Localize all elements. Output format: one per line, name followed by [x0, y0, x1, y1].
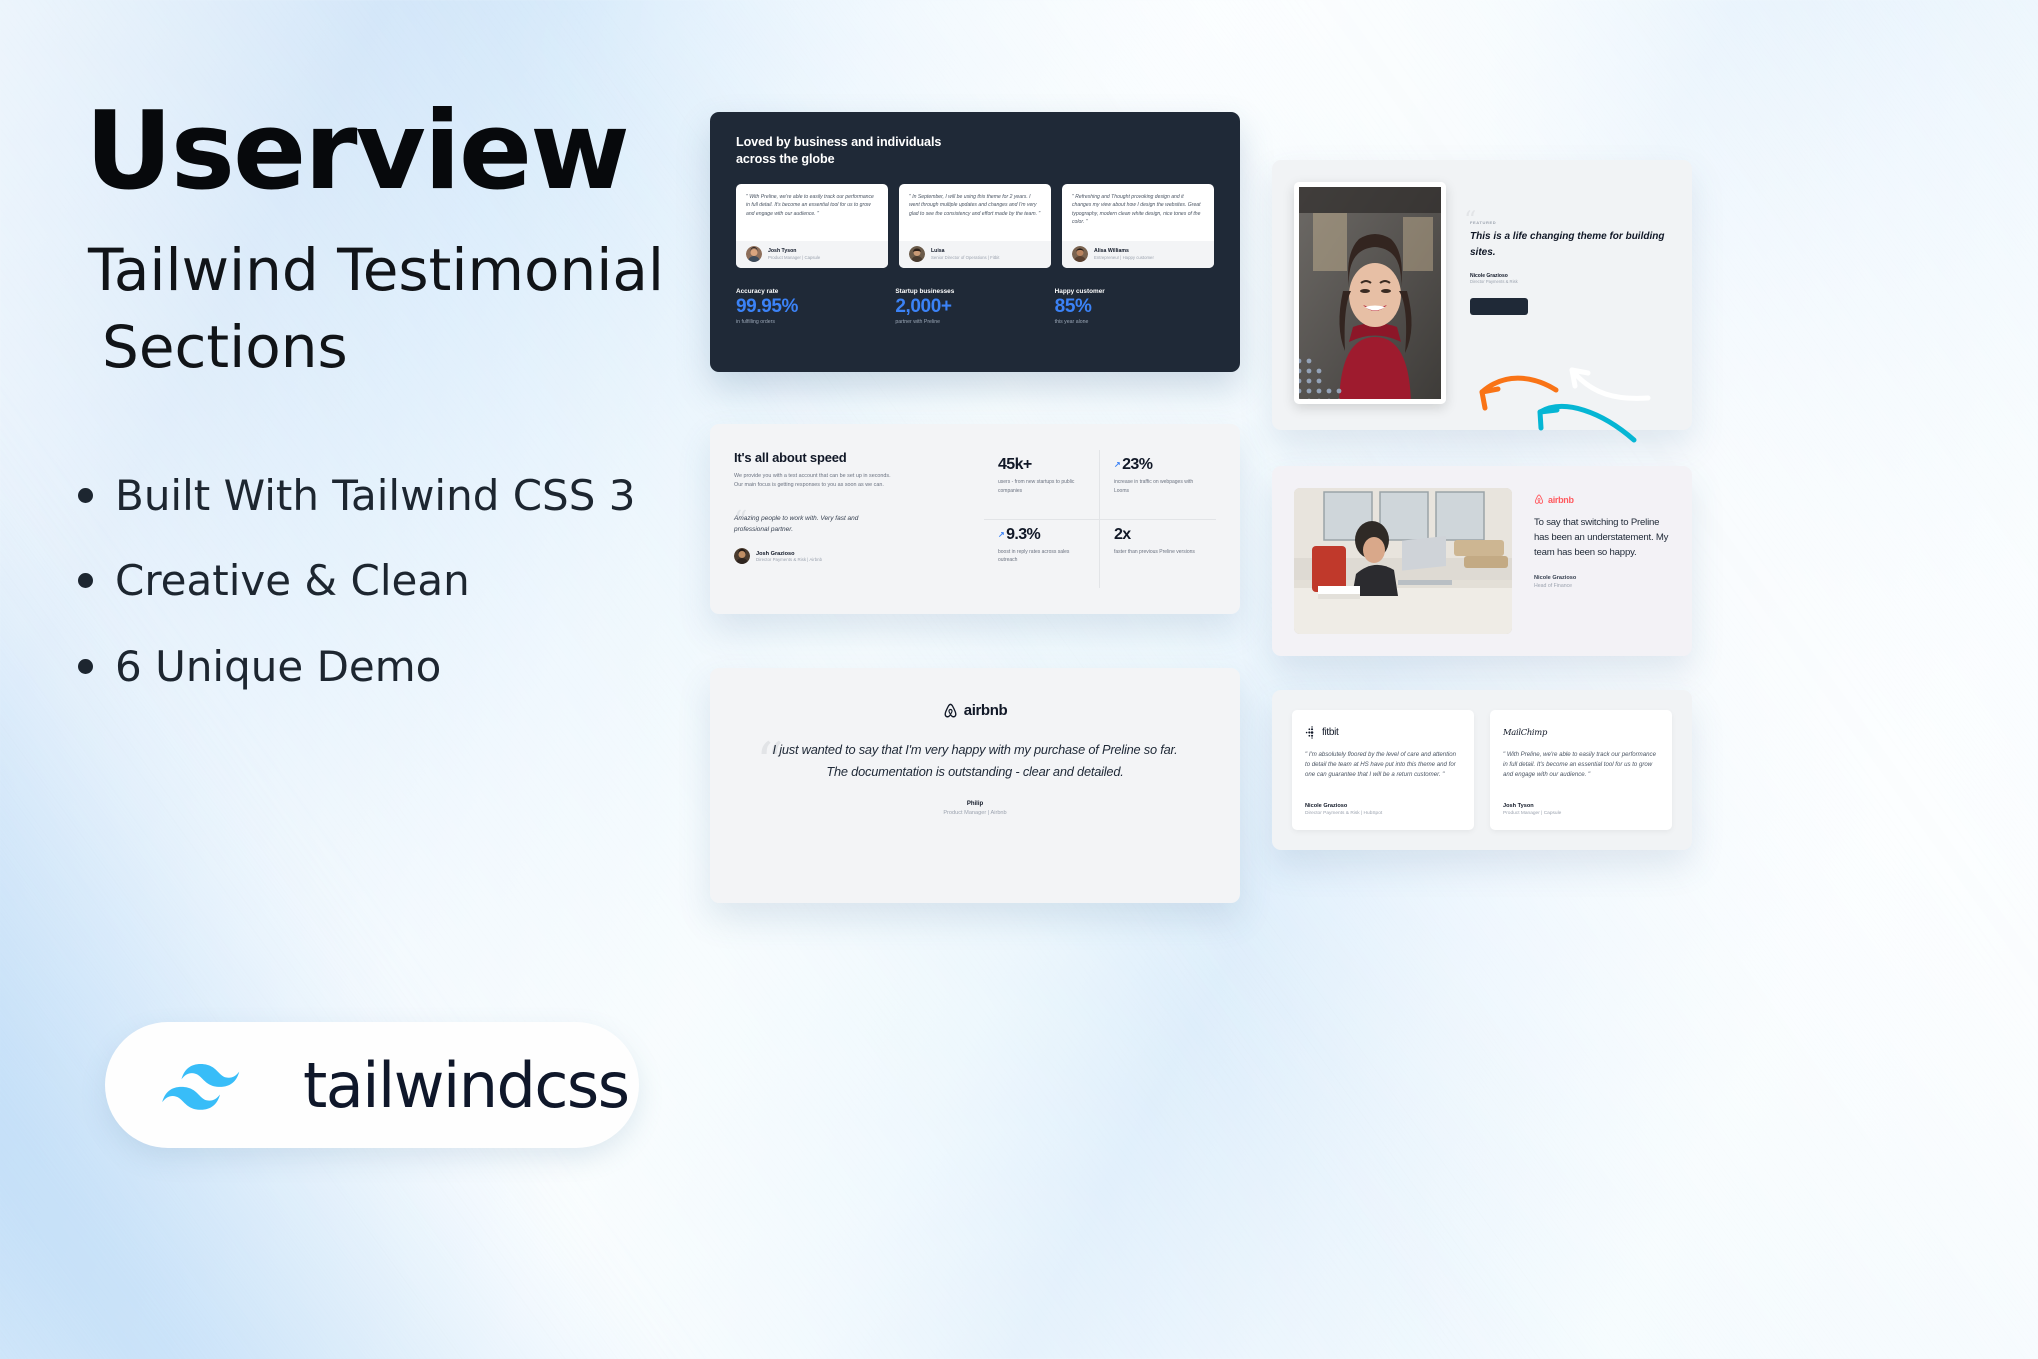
- testimonial-card: " Refreshing and Thought provoking desig…: [1062, 184, 1214, 268]
- speed-card-quote: Amazing people to work with. Very fast a…: [734, 513, 970, 535]
- testimonial-text: " I'm absolutely floored by the level of…: [1305, 750, 1461, 803]
- airbnb-logo: airbnb: [764, 702, 1186, 719]
- stat-label: Accuracy rate: [736, 288, 895, 295]
- speed-card-left: It's all about speed We provide you with…: [734, 450, 984, 588]
- stat-cell: ↗ 23% increase in traffic on webpages wi…: [1100, 450, 1216, 520]
- testimonial-text: " With Preline, we're able to easily tra…: [1503, 750, 1659, 803]
- author-role: Product Manager | Airbnb: [764, 810, 1186, 816]
- subtitle-line-2: Sections: [88, 309, 688, 386]
- tailwindcss-wordmark: tailwindcss: [303, 1049, 629, 1122]
- stat-desc: increase in traffic on webpages with Loo…: [1114, 478, 1204, 495]
- dark-card-quote-row: " With Preline, we're able to easily tra…: [736, 184, 1214, 268]
- list-item: Creative & Clean: [78, 537, 470, 623]
- author-name: Josh Tyson: [1503, 803, 1659, 809]
- speed-quote-line-2: professional partner.: [734, 524, 970, 535]
- airbnb-wordmark: airbnb: [1548, 495, 1574, 505]
- stat-desc: faster than previous Preline versions: [1114, 548, 1204, 557]
- stat-value-wrap: ↗ 9.3%: [998, 526, 1087, 544]
- testimonial-author: Alisa Williams Entrepreneur | Happy cust…: [1062, 241, 1214, 268]
- author-name: Philip: [764, 801, 1186, 807]
- mailchimp-wordmark: MailChimp: [1503, 727, 1547, 737]
- stat-value: 2,000+: [895, 295, 1054, 319]
- testimonial-text: This is a life changing theme for buildi…: [1470, 229, 1670, 261]
- testimonial-card: " With Preline, we're able to easily tra…: [736, 184, 888, 268]
- fitbit-logo: fitbit: [1305, 724, 1461, 740]
- speed-card-stats-grid: 45k+ users - from new startups to public…: [984, 450, 1216, 588]
- author-role: Director Payments & Risk | Airbnb: [756, 557, 822, 562]
- author-role: Product Manager | Capsule: [1503, 811, 1659, 816]
- portrait-photo: [1294, 182, 1446, 404]
- desk-photo: [1294, 488, 1512, 634]
- author-meta: Alisa Williams Entrepreneur | Happy cust…: [1094, 248, 1154, 261]
- author-meta: Josh Grazioso Director Payments & Risk |…: [756, 551, 822, 562]
- author-role: Director Payments & Risk | HubSpot: [1305, 811, 1461, 816]
- airbnb-logo-icon: [943, 703, 958, 719]
- mailchimp-logo: MailChimp: [1503, 724, 1659, 740]
- page-subtitle: Tailwind Testimonial Sections: [88, 232, 688, 385]
- airbnb-wordmark: airbnb: [964, 702, 1007, 719]
- speed-card-author: Josh Grazioso Director Payments & Risk |…: [734, 548, 970, 564]
- desk-card-body: airbnb To say that switching to Preline …: [1534, 488, 1670, 634]
- hero-panel: Userview Tailwind Testimonial Sections B…: [0, 0, 700, 1359]
- speed-card-paragraph: We provide you with a test account that …: [734, 472, 970, 491]
- author-role: Director Payments & Risk: [1470, 279, 1670, 284]
- bullet-icon: [78, 659, 93, 674]
- dark-heading-line-2: across the globe: [736, 151, 1214, 168]
- list-item: Built With Tailwind CSS 3: [78, 452, 635, 538]
- desk-image: [1294, 488, 1512, 634]
- testimonial-text: " With Preline, we're able to easily tra…: [736, 184, 888, 241]
- feature-label: Creative & Clean: [115, 556, 470, 605]
- list-item: 6 Unique Demo: [78, 623, 441, 709]
- testimonial-card: MailChimp " With Preline, we're able to …: [1490, 710, 1672, 830]
- author-meta: Luisa Senior Director of Operations | Fi…: [931, 248, 999, 261]
- quote-mark-icon: “: [1464, 208, 1476, 232]
- mockup-speed-stats-card: It's all about speed We provide you with…: [710, 424, 1240, 614]
- stat-label: Happy customer: [1055, 288, 1214, 295]
- tailwindcss-logo-icon: [155, 1048, 277, 1122]
- stat-cell: ↗ 9.3% boost in reply rates across sales…: [984, 520, 1100, 589]
- author-meta: Josh Tyson Product Manager | Capsule: [768, 248, 820, 261]
- subtitle-line-1: Tailwind Testimonial: [88, 236, 664, 304]
- stat-value-wrap: 2x: [1114, 526, 1204, 544]
- author-role: Entrepreneur | Happy customer: [1094, 255, 1154, 261]
- author-role: Product Manager | Capsule: [768, 255, 820, 261]
- speed-quote-line-1: Amazing people to work with. Very fast a…: [734, 513, 970, 524]
- avatar: [734, 548, 750, 564]
- stat-value: 23%: [1122, 456, 1152, 474]
- stat-value: 2x: [1114, 526, 1131, 544]
- fitbit-wordmark: fitbit: [1322, 727, 1339, 738]
- dark-card-stats-row: Accuracy rate 99.95% in fulfilling order…: [736, 288, 1214, 325]
- stat-value: 9.3%: [1006, 526, 1040, 544]
- mockup-dark-testimonial-card: Loved by business and individuals across…: [710, 112, 1240, 372]
- arrow-up-icon: ↗: [1114, 461, 1120, 469]
- page-title: Userview: [85, 98, 628, 206]
- stat-value: 85%: [1055, 295, 1214, 319]
- avatar: [746, 246, 762, 262]
- testimonial-author: Luisa Senior Director of Operations | Fi…: [899, 241, 1051, 268]
- speed-paragraph-line-2: Our main focus is getting responses to y…: [734, 481, 970, 490]
- bullet-icon: [78, 573, 93, 588]
- feature-label: 6 Unique Demo: [115, 642, 441, 691]
- feature-label: Built With Tailwind CSS 3: [115, 471, 635, 520]
- testimonial-text: " Refreshing and Thought provoking desig…: [1062, 184, 1214, 241]
- decorative-arrows: [1452, 340, 1652, 480]
- mockup-logo-testimonials-card: fitbit " I'm absolutely floored by the l…: [1272, 690, 1692, 850]
- airbnb-quote-text: I just wanted to say that I'm very happy…: [764, 739, 1186, 783]
- author-role: Head of Finance: [1534, 583, 1670, 589]
- testimonial-card: " In September, I will be using this the…: [899, 184, 1051, 268]
- bullet-icon: [78, 488, 93, 503]
- stat-block: Startup businesses 2,000+ partner with P…: [895, 288, 1054, 325]
- stat-sub: in fulfilling orders: [736, 319, 895, 325]
- fitbit-logo-icon: [1305, 726, 1318, 739]
- card-eyebrow: FEATURED: [1470, 220, 1670, 225]
- author-name: Josh Tyson: [768, 248, 820, 255]
- tailwindcss-badge: tailwindcss: [105, 1022, 639, 1148]
- author-name: Nicole Grazioso: [1534, 575, 1670, 581]
- dots-decoration: [1294, 357, 1345, 404]
- author-role: Senior Director of Operations | Fitbit: [931, 255, 999, 261]
- mockup-desk-testimonial-card: airbnb To say that switching to Preline …: [1272, 466, 1692, 656]
- author-name: Alisa Williams: [1094, 248, 1154, 255]
- speed-card-heading: It's all about speed: [734, 450, 970, 465]
- stat-desc: users - from new startups to public comp…: [998, 478, 1087, 495]
- stat-label: Startup businesses: [895, 288, 1054, 295]
- arrow-up-icon: ↗: [998, 531, 1004, 539]
- mockup-airbnb-quote-card: airbnb “ I just wanted to say that I'm v…: [710, 668, 1240, 903]
- testimonial-text: " In September, I will be using this the…: [899, 184, 1051, 241]
- dark-heading-line-1: Loved by business and individuals: [736, 134, 1214, 151]
- stat-value: 99.95%: [736, 295, 895, 319]
- stat-desc: boost in reply rates across sales outrea…: [998, 548, 1087, 565]
- stat-value: 45k+: [998, 456, 1032, 474]
- stat-cell: 45k+ users - from new startups to public…: [984, 450, 1100, 520]
- avatar: [909, 246, 925, 262]
- stat-block: Accuracy rate 99.95% in fulfilling order…: [736, 288, 895, 325]
- airbnb-logo-icon: [1534, 494, 1544, 505]
- stat-value-wrap: ↗ 23%: [1114, 456, 1204, 474]
- testimonial-author: Josh Tyson Product Manager | Capsule: [736, 241, 888, 268]
- dark-card-heading: Loved by business and individuals across…: [736, 134, 1214, 167]
- testimonial-text: To say that switching to Preline has bee…: [1534, 516, 1670, 561]
- stat-value-wrap: 45k+: [998, 456, 1087, 474]
- stat-sub: this year alone: [1055, 319, 1214, 325]
- stat-sub: partner with Preline: [895, 319, 1054, 325]
- author-name: Nicole Grazioso: [1305, 803, 1461, 809]
- author-name: Luisa: [931, 248, 999, 255]
- cta-button[interactable]: [1470, 298, 1528, 315]
- avatar: [1072, 246, 1088, 262]
- airbnb-logo: airbnb: [1534, 494, 1670, 505]
- stat-block: Happy customer 85% this year alone: [1055, 288, 1214, 325]
- testimonial-card: fitbit " I'm absolutely floored by the l…: [1292, 710, 1474, 830]
- stat-cell: 2x faster than previous Preline versions: [1100, 520, 1216, 589]
- speed-paragraph-line-1: We provide you with a test account that …: [734, 472, 970, 481]
